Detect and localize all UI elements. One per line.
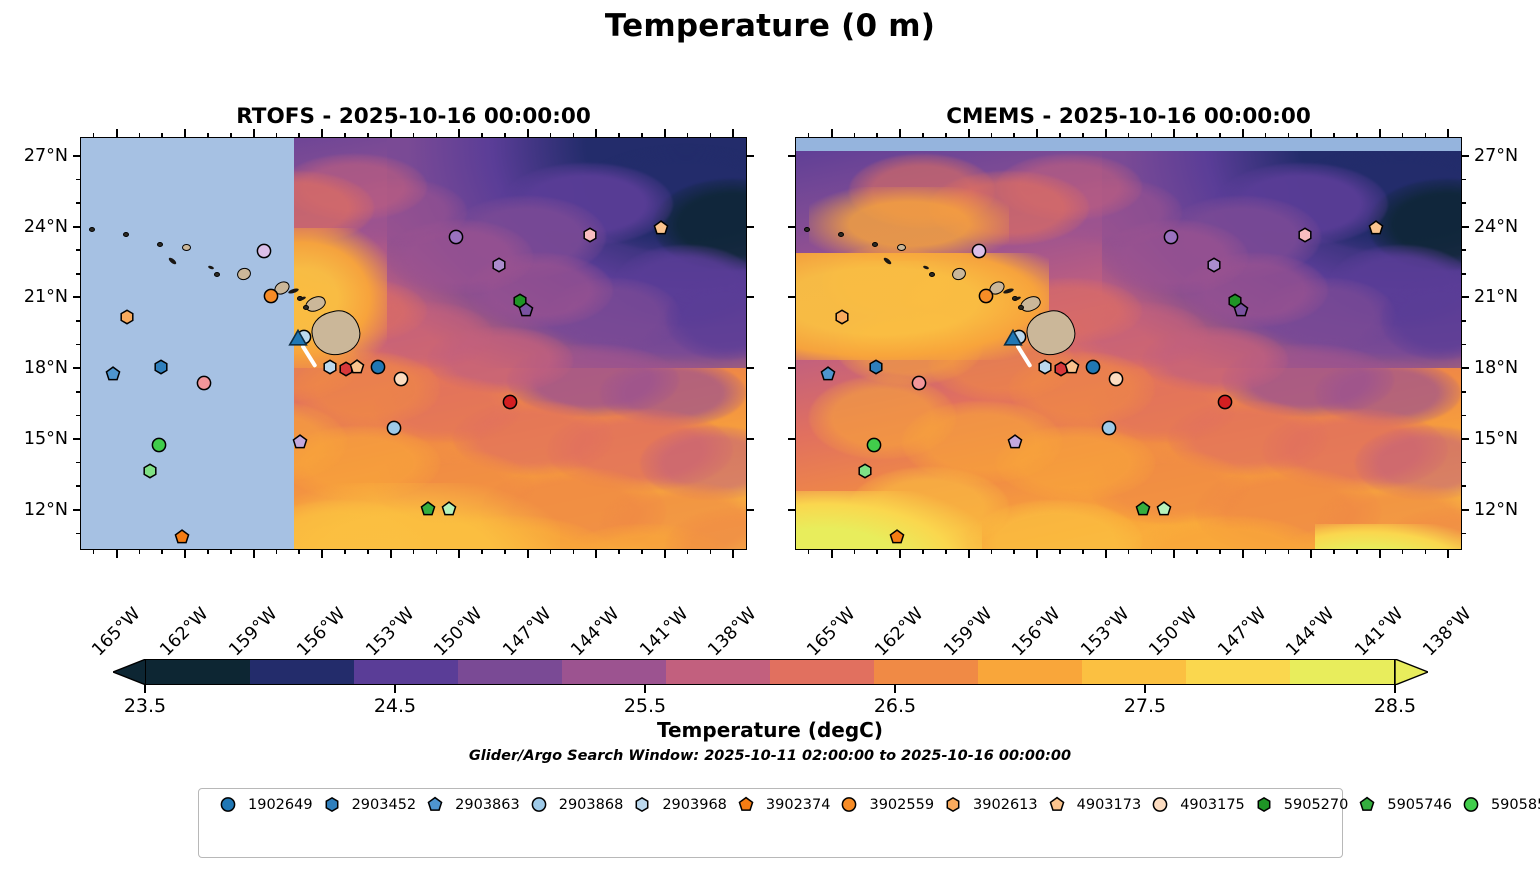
legend-item-2903452[interactable]: 2903452	[313, 796, 417, 813]
colorbar-tick-label-3: 26.5	[874, 695, 916, 717]
marker-4903173b[interactable]	[1369, 220, 1384, 235]
lon-top-tick-rtofs--144	[595, 129, 597, 137]
lon-top-tick-cmems--165	[831, 129, 833, 137]
lon-tick-label-cmems-1: 162°W	[871, 604, 927, 660]
legend-item-1902649[interactable]: 1902649	[209, 796, 313, 813]
pentagon-marker-icon	[1354, 796, 1380, 813]
lon-tick-label-rtofs-7: 144°W	[568, 604, 624, 660]
lon-minor-tick-rtofs--139	[710, 550, 712, 554]
circle-marker-icon	[526, 796, 552, 813]
marker-5906757[interactable]	[197, 376, 212, 391]
circle-marker-icon	[1147, 796, 1173, 813]
lat-tick-label-cmems-5: 12°N	[1474, 500, 1518, 520]
colorbar-segment-9	[1082, 660, 1186, 684]
colorbar-tick-0	[144, 685, 146, 693]
lat-inner-tick-cmems-5	[788, 509, 795, 511]
marker-4903175[interactable]	[393, 371, 408, 386]
lon-tick-cmems-5	[1173, 550, 1175, 558]
lon-minor-tick-cmems--146	[1265, 550, 1267, 554]
lon-minor-tick-rtofs--155	[344, 550, 346, 554]
marker-7901106[interactable]	[971, 244, 986, 259]
lat-minor-tick-cmems-17	[1462, 391, 1466, 393]
lon-top-tick-cmems--157	[1013, 133, 1015, 137]
lon-minor-tick-rtofs--143	[618, 550, 620, 554]
marker-3902613[interactable]	[119, 310, 134, 325]
lat-inner-tick-cmems-3	[788, 367, 795, 369]
marker-5905862[interactable]	[857, 463, 872, 478]
colorbar-title: Temperature (degC)	[0, 718, 1540, 742]
marker-2903868[interactable]	[1101, 421, 1116, 436]
rtofs-nodata-mask	[81, 138, 294, 549]
lon-tick-label-rtofs-8: 141°W	[636, 604, 692, 660]
marker-5906815[interactable]	[1163, 230, 1178, 245]
marker-5906400[interactable]	[1218, 395, 1233, 410]
lon-top-tick-rtofs--147	[527, 129, 529, 137]
lat-inner-tick-rtofs-1	[747, 226, 754, 228]
marker-5906811[interactable]	[1298, 227, 1313, 242]
lon-minor-tick-cmems--148	[1219, 550, 1221, 554]
colorbar-tick-5	[1394, 685, 1396, 693]
lon-top-tick-rtofs--151	[436, 133, 438, 137]
lon-top-tick-rtofs--157	[298, 133, 300, 137]
lon-tick-label-cmems-2: 159°W	[940, 604, 996, 660]
colorbar-segment-0	[146, 660, 250, 684]
lat-inner-tick-cmems-2	[788, 296, 795, 298]
lat-minor-tick-rtofs-23	[76, 249, 80, 251]
marker-2903968[interactable]	[322, 359, 337, 374]
legend-item-2903968[interactable]: 2903968	[623, 796, 727, 813]
legend-item-5905270[interactable]: 5905270	[1245, 796, 1349, 813]
lon-minor-tick-rtofs--142	[641, 550, 643, 554]
lon-minor-tick-rtofs--164	[139, 550, 141, 554]
lat-minor-tick-cmems-26	[1462, 179, 1466, 181]
lon-minor-tick-cmems--142	[1356, 550, 1358, 554]
marker-5906400[interactable]	[503, 395, 518, 410]
marker-5906815[interactable]	[448, 230, 463, 245]
lon-minor-tick-cmems--155	[1059, 550, 1061, 554]
lon-minor-tick-cmems--166	[808, 550, 810, 554]
lon-top-tick-cmems--145	[1288, 133, 1290, 137]
legend-label: 5905855	[1491, 797, 1540, 813]
lon-tick-rtofs-3	[321, 550, 323, 558]
lon-top-tick-cmems--154	[1082, 133, 1084, 137]
island-laysan	[157, 242, 163, 247]
lon-tick-cmems-1	[899, 550, 901, 558]
lon-top-tick-rtofs--145	[573, 133, 575, 137]
lon-tick-rtofs-2	[253, 550, 255, 558]
island-laysan	[872, 242, 878, 247]
lon-minor-tick-rtofs--145	[573, 550, 575, 554]
lat-tick-label-rtofs-5: 12°N	[24, 500, 68, 520]
lon-tick-rtofs-4	[390, 550, 392, 558]
lat-minor-tick-rtofs-16	[76, 415, 80, 417]
lon-top-tick-cmems--160	[945, 133, 947, 137]
legend-label: 2903452	[352, 797, 417, 813]
colorbar-gradient	[145, 659, 1395, 685]
marker-7901104[interactable]	[1008, 435, 1023, 450]
lat-minor-tick-rtofs-19	[76, 344, 80, 346]
lon-minor-tick-rtofs--151	[436, 550, 438, 554]
lat-minor-tick-rtofs-13	[76, 485, 80, 487]
marker-5906164[interactable]	[441, 501, 456, 516]
lon-minor-tick-cmems--139	[1425, 550, 1427, 554]
legend-item-2903868[interactable]: 2903868	[520, 796, 624, 813]
lat-tick-rtofs-3	[73, 367, 80, 369]
lon-minor-tick-cmems--164	[854, 550, 856, 554]
legend-item-5905746[interactable]: 5905746	[1348, 796, 1452, 813]
legend-label: 1902649	[248, 797, 313, 813]
lon-top-tick-cmems--158	[991, 133, 993, 137]
lon-top-tick-cmems--139	[1425, 133, 1427, 137]
marker-5906814[interactable]	[519, 303, 534, 318]
lon-top-tick-rtofs--155	[344, 133, 346, 137]
marker-5906164[interactable]	[1156, 501, 1171, 516]
colorbar-segment-8	[978, 660, 1082, 684]
legend-label: 2903863	[455, 797, 520, 813]
marker-4903173[interactable]	[350, 359, 365, 374]
lat-tick-label-rtofs-3: 18°N	[24, 358, 68, 378]
marker-5905862[interactable]	[142, 463, 157, 478]
lat-tick-label-cmems-2: 21°N	[1474, 287, 1518, 307]
lon-top-tick-rtofs--140	[687, 133, 689, 137]
lon-top-tick-cmems--152	[1128, 133, 1130, 137]
colorbar-segment-10	[1186, 660, 1290, 684]
lat-minor-tick-cmems-19	[1462, 344, 1466, 346]
legend-item-3902559[interactable]: 3902559	[830, 796, 934, 813]
lon-top-tick-cmems--150	[1173, 129, 1175, 137]
lon-tick-label-rtofs-2: 159°W	[225, 604, 281, 660]
lon-tick-label-rtofs-4: 153°W	[362, 604, 418, 660]
colorbar-segment-3	[458, 660, 562, 684]
marker-sg626[interactable]	[288, 330, 308, 350]
marker-7901106[interactable]	[256, 244, 271, 259]
lon-minor-tick-rtofs--146	[550, 550, 552, 554]
lat-minor-tick-rtofs-25	[76, 202, 80, 204]
lat-minor-tick-cmems-23	[1462, 249, 1466, 251]
lon-minor-tick-cmems--154	[1082, 550, 1084, 554]
lat-minor-tick-cmems-11	[1462, 533, 1466, 535]
lon-minor-tick-cmems--152	[1128, 550, 1130, 554]
lon-top-tick-rtofs--139	[710, 133, 712, 137]
lon-tick-cmems-4	[1105, 550, 1107, 558]
lon-top-tick-rtofs--142	[641, 133, 643, 137]
colorbar-tick-label-4: 27.5	[1124, 695, 1166, 717]
colorbar-segment-2	[354, 660, 458, 684]
cmems-top-strip	[796, 138, 1461, 151]
legend-label: 3902374	[766, 797, 831, 813]
marker-2903868[interactable]	[386, 421, 401, 436]
lon-top-tick-rtofs--163	[161, 133, 163, 137]
marker-7901104[interactable]	[293, 435, 308, 450]
lat-inner-tick-rtofs-3	[747, 367, 754, 369]
lon-top-tick-rtofs--161	[207, 133, 209, 137]
lon-minor-tick-rtofs--163	[161, 550, 163, 554]
marker-5907061[interactable]	[1207, 258, 1222, 273]
marker-5905746[interactable]	[421, 501, 436, 516]
lon-top-tick-rtofs--160	[230, 133, 232, 137]
lon-tick-cmems-6	[1242, 550, 1244, 558]
lon-top-tick-cmems--151	[1151, 133, 1153, 137]
legend-item-3902374[interactable]: 3902374	[727, 796, 831, 813]
colorbar-tick-3	[894, 685, 896, 693]
lon-top-tick-cmems--141	[1379, 129, 1381, 137]
lon-minor-tick-cmems--163	[876, 550, 878, 554]
colorbar-tick-label-2: 25.5	[624, 695, 666, 717]
lat-minor-tick-cmems-16	[1462, 415, 1466, 417]
colorbar-tick-label-1: 24.5	[374, 695, 416, 717]
lon-top-tick-cmems--144	[1310, 129, 1312, 137]
lat-tick-cmems-4	[1462, 438, 1469, 440]
lat-inner-tick-rtofs-0	[747, 155, 754, 157]
hexagon-marker-icon	[1251, 796, 1277, 813]
lon-tick-rtofs-9	[732, 550, 734, 558]
lat-minor-tick-cmems-22	[1462, 273, 1466, 275]
lon-minor-tick-rtofs--157	[298, 550, 300, 554]
marker-2903968[interactable]	[1037, 359, 1052, 374]
lon-tick-rtofs-1	[184, 550, 186, 558]
colorbar-tick-4	[1144, 685, 1146, 693]
lon-top-tick-rtofs--166	[93, 133, 95, 137]
lon-minor-tick-rtofs--158	[276, 550, 278, 554]
lat-tick-label-cmems-3: 18°N	[1474, 358, 1518, 378]
lat-inner-tick-rtofs-4	[747, 438, 754, 440]
lat-tick-label-rtofs-0: 27°N	[24, 146, 68, 166]
lat-minor-tick-rtofs-22	[76, 273, 80, 275]
lon-top-tick-cmems--161	[922, 133, 924, 137]
lon-minor-tick-cmems--140	[1402, 550, 1404, 554]
marker-2903863[interactable]	[820, 367, 835, 382]
lon-minor-tick-rtofs--140	[687, 550, 689, 554]
lon-top-tick-cmems--138	[1447, 129, 1449, 137]
lon-tick-label-cmems-7: 144°W	[1283, 604, 1339, 660]
lon-tick-rtofs-5	[458, 550, 460, 558]
platform-legend[interactable]: 1902649290345229038632903868290396839023…	[198, 788, 1343, 858]
lon-top-tick-cmems--142	[1356, 133, 1358, 137]
lat-tick-rtofs-1	[73, 226, 80, 228]
marker-2903452[interactable]	[868, 359, 883, 374]
marker-4903173b[interactable]	[654, 220, 669, 235]
lon-tick-cmems-7	[1310, 550, 1312, 558]
lat-minor-tick-rtofs-14	[76, 462, 80, 464]
legend-label: 2903968	[662, 797, 727, 813]
marker-3902559[interactable]	[263, 289, 278, 304]
lat-minor-tick-cmems-25	[1462, 202, 1466, 204]
lon-minor-tick-rtofs--161	[207, 550, 209, 554]
lon-tick-rtofs-7	[595, 550, 597, 558]
lat-tick-rtofs-4	[73, 438, 80, 440]
lat-tick-label-rtofs-1: 24°N	[24, 217, 68, 237]
colorbar-segment-1	[250, 660, 354, 684]
legend-label: 3902559	[869, 797, 934, 813]
colorbar-segment-6	[770, 660, 874, 684]
marker-2903452[interactable]	[153, 359, 168, 374]
lon-tick-rtofs-8	[664, 550, 666, 558]
lat-tick-rtofs-2	[73, 296, 80, 298]
hexagon-marker-icon	[940, 796, 966, 813]
lon-tick-cmems-2	[968, 550, 970, 558]
marker-3902374[interactable]	[174, 529, 189, 544]
colorbar-tick-1	[394, 685, 396, 693]
lon-top-tick-cmems--163	[876, 133, 878, 137]
lon-minor-tick-cmems--145	[1288, 550, 1290, 554]
lat-inner-tick-rtofs-5	[747, 509, 754, 511]
lon-tick-label-cmems-3: 156°W	[1008, 604, 1064, 660]
temperature-field-cmems	[796, 138, 1461, 549]
lon-tick-cmems-8	[1379, 550, 1381, 558]
lon-top-tick-cmems--147	[1242, 129, 1244, 137]
lon-top-tick-cmems--162	[899, 129, 901, 137]
lon-top-tick-rtofs--146	[550, 133, 552, 137]
lat-minor-tick-cmems-20	[1462, 320, 1466, 322]
warm-pool-se	[1315, 524, 1462, 550]
legend-item-3902613[interactable]: 3902613	[934, 796, 1038, 813]
lon-tick-label-cmems-0: 165°W	[803, 604, 859, 660]
lat-minor-tick-rtofs-11	[76, 533, 80, 535]
lon-tick-label-rtofs-1: 162°W	[156, 604, 212, 660]
lon-top-tick-rtofs--152	[413, 133, 415, 137]
marker-sg626[interactable]	[1003, 330, 1023, 350]
lat-tick-rtofs-0	[73, 155, 80, 157]
legend-label: 5905746	[1387, 797, 1452, 813]
lon-top-tick-rtofs--159	[253, 129, 255, 137]
lon-top-tick-cmems--166	[808, 133, 810, 137]
lon-top-tick-rtofs--138	[732, 129, 734, 137]
circle-marker-icon	[836, 796, 862, 813]
lat-minor-tick-cmems-13	[1462, 485, 1466, 487]
marker-5906757[interactable]	[912, 376, 927, 391]
sst-contour-blob	[809, 376, 955, 458]
lon-top-tick-cmems--140	[1402, 133, 1404, 137]
lon-top-tick-cmems--148	[1219, 133, 1221, 137]
lat-tick-cmems-5	[1462, 509, 1469, 511]
lon-minor-tick-cmems--151	[1151, 550, 1153, 554]
marker-2903863[interactable]	[105, 367, 120, 382]
lat-tick-label-cmems-1: 24°N	[1474, 217, 1518, 237]
lat-minor-tick-rtofs-17	[76, 391, 80, 393]
colorbar-segment-11	[1290, 660, 1394, 684]
lon-tick-label-cmems-4: 153°W	[1077, 604, 1133, 660]
colorbar-extend-low	[113, 659, 146, 685]
marker-5905746[interactable]	[1136, 501, 1151, 516]
lat-inner-tick-rtofs-2	[747, 296, 754, 298]
lat-tick-label-rtofs-2: 21°N	[24, 287, 68, 307]
lon-minor-tick-rtofs--148	[504, 550, 506, 554]
marker-3902613[interactable]	[834, 310, 849, 325]
lon-minor-tick-cmems--158	[991, 550, 993, 554]
lon-top-tick-rtofs--165	[116, 129, 118, 137]
lon-top-tick-rtofs--150	[458, 129, 460, 137]
lon-top-tick-cmems--155	[1059, 133, 1061, 137]
marker-3902559[interactable]	[978, 289, 993, 304]
legend-label: 4903175	[1180, 797, 1245, 813]
lon-tick-label-rtofs-0: 165°W	[88, 604, 144, 660]
pentagon-marker-icon	[1044, 796, 1070, 813]
legend-item-5905855[interactable]: 5905855	[1452, 796, 1540, 813]
marker-5906814[interactable]	[1234, 303, 1249, 318]
legend-item-4903173[interactable]: 4903173	[1038, 796, 1142, 813]
lon-minor-tick-rtofs--160	[230, 550, 232, 554]
lon-top-tick-cmems--149	[1196, 133, 1198, 137]
hexagon-marker-icon	[629, 796, 655, 813]
legend-label: 3902613	[973, 797, 1038, 813]
lon-minor-tick-rtofs--152	[413, 550, 415, 554]
lon-top-tick-rtofs--141	[664, 129, 666, 137]
colorbar-segment-5	[666, 660, 770, 684]
lon-tick-label-cmems-8: 141°W	[1351, 604, 1407, 660]
marker-5905855[interactable]	[866, 437, 881, 452]
colorbar-segment-4	[562, 660, 666, 684]
circle-marker-icon	[215, 796, 241, 813]
lon-top-tick-rtofs--156	[321, 129, 323, 137]
colorbar-tick-label-5: 28.5	[1374, 695, 1416, 717]
lon-top-tick-rtofs--162	[184, 129, 186, 137]
lon-top-tick-cmems--159	[968, 129, 970, 137]
lat-tick-cmems-1	[1462, 226, 1469, 228]
lon-top-tick-rtofs--154	[367, 133, 369, 137]
marker-4903173[interactable]	[1065, 359, 1080, 374]
lon-top-tick-rtofs--148	[504, 133, 506, 137]
lon-tick-label-rtofs-6: 147°W	[499, 604, 555, 660]
lon-tick-label-rtofs-3: 156°W	[293, 604, 349, 660]
lat-inner-tick-cmems-1	[788, 226, 795, 228]
lon-top-tick-cmems--143	[1333, 133, 1335, 137]
pentagon-marker-icon	[733, 796, 759, 813]
lon-minor-tick-cmems--157	[1013, 550, 1015, 554]
marker-1902649[interactable]	[370, 359, 385, 374]
lon-tick-label-cmems-6: 147°W	[1214, 604, 1270, 660]
marker-5906811[interactable]	[583, 227, 598, 242]
lat-tick-rtofs-5	[73, 509, 80, 511]
lon-minor-tick-cmems--160	[945, 550, 947, 554]
marker-1902649[interactable]	[1085, 359, 1100, 374]
lon-tick-cmems-3	[1036, 550, 1038, 558]
colorbar-tick-2	[644, 685, 646, 693]
lat-tick-cmems-3	[1462, 367, 1469, 369]
marker-5905855[interactable]	[151, 437, 166, 452]
lon-tick-rtofs-6	[527, 550, 529, 558]
lon-tick-cmems-9	[1447, 550, 1449, 558]
warm-band-south	[254, 483, 560, 550]
lon-minor-tick-cmems--161	[922, 550, 924, 554]
legend-item-4903175[interactable]: 4903175	[1141, 796, 1245, 813]
legend-item-2903863[interactable]: 2903863	[416, 796, 520, 813]
marker-5907061[interactable]	[492, 258, 507, 273]
marker-3902374[interactable]	[889, 529, 904, 544]
lon-top-tick-rtofs--164	[139, 133, 141, 137]
lat-tick-label-cmems-0: 27°N	[1474, 146, 1518, 166]
pentagon-marker-icon	[422, 796, 448, 813]
lon-minor-tick-rtofs--154	[367, 550, 369, 554]
colorbar-segment-7	[874, 660, 978, 684]
lon-top-tick-cmems--156	[1036, 129, 1038, 137]
map-panel-cmems[interactable]	[795, 137, 1462, 550]
lon-tick-rtofs-0	[116, 550, 118, 558]
lon-top-tick-rtofs--149	[481, 133, 483, 137]
lon-tick-label-cmems-5: 150°W	[1146, 604, 1202, 660]
lon-tick-cmems-0	[831, 550, 833, 558]
marker-4903175[interactable]	[1108, 371, 1123, 386]
figure-title: Temperature (0 m)	[0, 8, 1540, 44]
lon-tick-label-rtofs-5: 150°W	[431, 604, 487, 660]
lon-top-tick-rtofs--158	[276, 133, 278, 137]
lon-top-tick-rtofs--143	[618, 133, 620, 137]
legend-label: 4903173	[1077, 797, 1142, 813]
lat-tick-label-cmems-4: 15°N	[1474, 429, 1518, 449]
lon-tick-label-cmems-9: 138°W	[1420, 604, 1476, 660]
legend-label: 5905270	[1284, 797, 1349, 813]
map-panel-rtofs[interactable]	[80, 137, 747, 550]
colorbar[interactable]: 23.524.525.526.527.528.5	[113, 659, 1427, 685]
